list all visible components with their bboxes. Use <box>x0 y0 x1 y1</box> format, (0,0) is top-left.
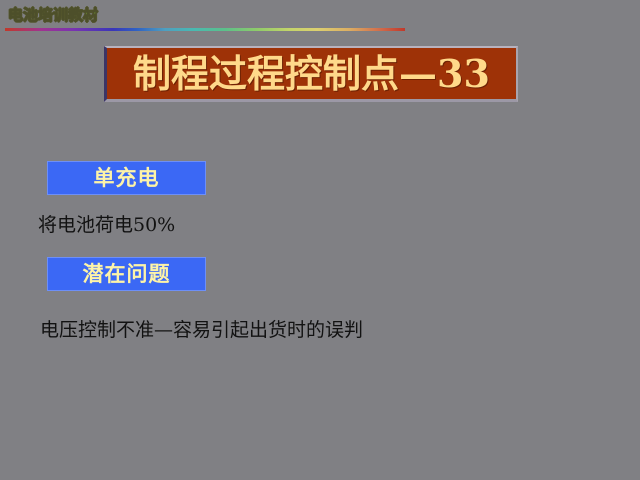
rainbow-divider <box>5 28 405 31</box>
section-label-charge: 单充电 <box>47 161 206 195</box>
section-body-charge: 将电池荷电50% <box>38 213 175 237</box>
section-label-issue-text: 潜在问题 <box>83 262 171 286</box>
section-label-charge-text: 单充电 <box>94 166 160 190</box>
slide-header-title: 电池培训教材 <box>8 6 98 24</box>
slide-title-text: 制程过程控制点—33 <box>133 54 490 94</box>
slide-title-banner: 制程过程控制点—33 <box>104 46 518 102</box>
presentation-slide: 电池培训教材 制程过程控制点—33 单充电 将电池荷电50% 潜在问题 电压控制… <box>0 0 640 480</box>
section-body-issue: 电压控制不准—容易引起出货时的误判 <box>40 318 363 342</box>
section-label-issue: 潜在问题 <box>47 257 206 291</box>
